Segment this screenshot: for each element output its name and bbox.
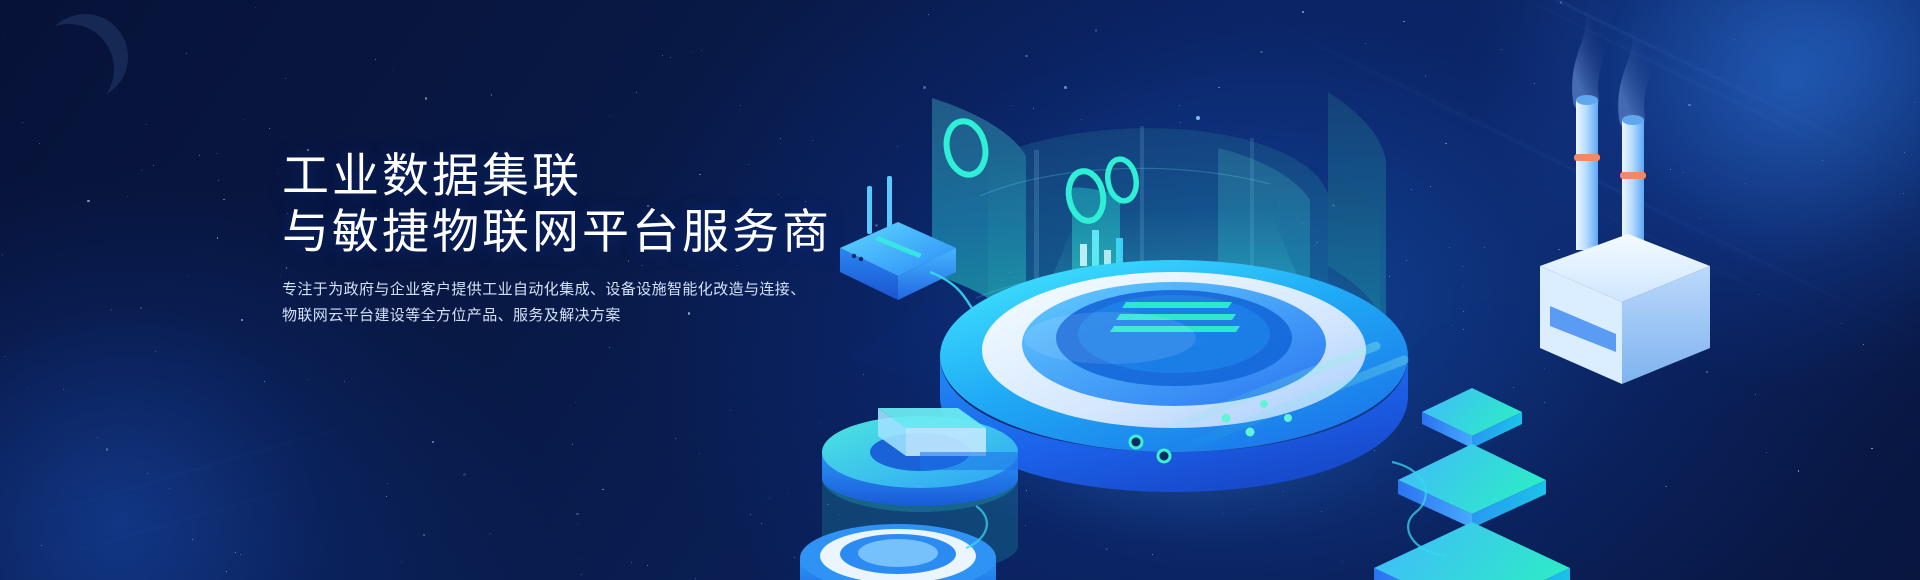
star [463, 473, 465, 475]
star [187, 276, 188, 277]
star [386, 496, 387, 497]
star [235, 552, 237, 554]
star [572, 444, 573, 445]
subtitle-line-1: 专注于为政府与企业客户提供工业自动化集成、设备设施智能化改造与连接、 [282, 277, 902, 303]
step-pyramid [1374, 388, 1570, 580]
star [490, 533, 491, 534]
star [670, 57, 671, 58]
star [761, 523, 762, 524]
star [280, 275, 282, 277]
crescent-moon-icon [42, 14, 128, 100]
star [576, 513, 578, 515]
star [243, 119, 244, 120]
star [39, 143, 40, 144]
star [609, 116, 610, 117]
star [63, 389, 64, 390]
star [346, 39, 348, 41]
star [269, 128, 270, 129]
star [264, 381, 265, 382]
star [401, 562, 402, 563]
star [701, 50, 702, 51]
star [636, 92, 637, 93]
star [602, 489, 604, 491]
star [147, 473, 148, 474]
star [110, 309, 112, 311]
star [2, 254, 4, 256]
star [580, 574, 582, 576]
star [4, 37, 5, 38]
star [106, 448, 108, 450]
star [769, 498, 770, 499]
star [153, 165, 154, 166]
star [425, 97, 427, 99]
smokestack-factory [1540, 14, 1710, 384]
star [740, 105, 741, 106]
star [423, 534, 425, 536]
star [97, 437, 98, 438]
star [186, 53, 187, 54]
star [87, 200, 89, 202]
star [216, 153, 217, 154]
star [155, 351, 157, 353]
light-sweep [0, 385, 488, 558]
light-sweep [0, 448, 430, 580]
subtitle-line-2: 物联网云平台建设等全方位产品、服务及解决方案 [282, 303, 902, 329]
star [223, 199, 225, 201]
star [491, 94, 493, 96]
star [199, 155, 200, 156]
star [277, 173, 278, 174]
star [218, 180, 219, 181]
star [241, 319, 243, 321]
star [141, 170, 142, 171]
star [375, 59, 376, 60]
star [255, 7, 256, 8]
star [730, 409, 732, 411]
star [631, 562, 632, 563]
star [647, 565, 648, 566]
star [308, 379, 309, 380]
star [27, 388, 28, 389]
star [699, 453, 700, 454]
star [578, 559, 579, 560]
isometric-illustration [780, 0, 1920, 580]
star [609, 347, 610, 348]
star [695, 578, 696, 579]
star [344, 381, 345, 382]
star [387, 483, 388, 484]
hero-banner: 工业数据集联 与敏捷物联网平台服务商 专注于为政府与企业客户提供工业自动化集成、… [0, 0, 1920, 580]
star [577, 523, 578, 524]
star [675, 438, 676, 439]
star [392, 70, 393, 71]
star [217, 237, 219, 239]
star [169, 488, 170, 489]
headline-line-1: 工业数据集联 [282, 148, 902, 204]
hero-copy-block: 工业数据集联 与敏捷物联网平台服务商 专注于为政府与企业客户提供工业自动化集成、… [282, 148, 902, 329]
star [240, 554, 241, 555]
star [22, 122, 24, 124]
star [145, 124, 147, 126]
star [285, 78, 286, 79]
star [226, 571, 227, 572]
star [575, 402, 576, 403]
star [127, 196, 128, 197]
star [192, 539, 193, 540]
star [140, 307, 142, 309]
headline-line-2: 与敏捷物联网平台服务商 [282, 204, 902, 260]
star [691, 52, 692, 53]
star [4, 356, 5, 357]
star [662, 55, 663, 56]
star [750, 514, 751, 515]
star [525, 553, 527, 555]
star [41, 545, 42, 546]
star [432, 441, 434, 443]
